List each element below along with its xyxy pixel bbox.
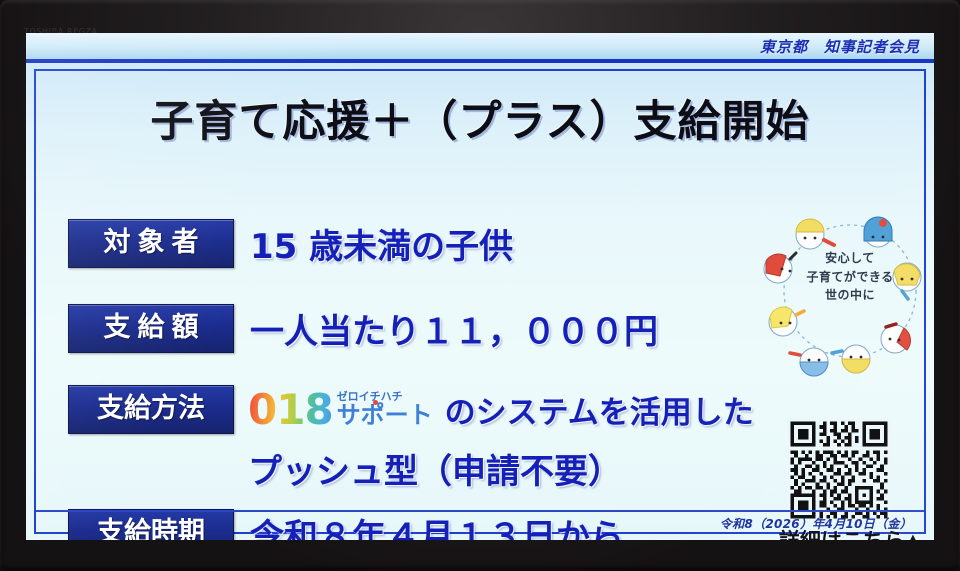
value-method-line1: のシステムを活用した [445,387,754,432]
logo-018-text: ゼロイチハチ サポート [337,391,433,427]
label-target: 対象者 [68,219,234,268]
value-timing: 令和８年４月１３日から [250,509,624,540]
illustration-caption: 安心して 子育てができる 世の中に [752,249,934,305]
value-method-line2: プッシュ型（申請不要） [248,444,622,493]
illustration-caption-line3: 世の中に [752,286,934,305]
row-method: 支給方法 018 ゼロイチハチ サポート のシステムを活用した [68,385,754,434]
tv-frame: TOSHIBA REGZA 東京都 知事記者会見 子育て応援＋（プラス）支給開始… [0,0,960,571]
label-timing: 支給時期 [68,509,234,540]
child-figure-top-right [864,217,892,247]
child-figure-bottom-left [790,348,828,376]
child-figure-bottom-right [881,324,911,353]
logo-018-support: 018 ゼロイチハチ サポート [248,391,433,429]
logo-018-digits: 018 [248,391,335,429]
footer-divider [36,510,924,512]
tv-screen: 東京都 知事記者会見 子育て応援＋（プラス）支給開始 対象者 15 歳未満の子供… [26,33,934,540]
row-amount: 支給額 一人当たり１１，０００円 [68,304,658,353]
logo-018-support-label: サポート [337,403,433,427]
child-figure-bottom [832,345,870,373]
illustration-caption-line1: 安心して [752,249,934,268]
qr-code-container[interactable] [783,418,895,522]
value-amount: 一人当たり１１，０００円 [250,304,658,353]
slide-headline: 子育て応援＋（プラス）支給開始 [26,87,934,149]
illustration-caption-line2: 子育てができる [752,268,934,287]
qr-code-icon[interactable] [783,418,895,522]
value-target: 15 歳未満の子供 [250,219,513,268]
children-ring-illustration: 安心して 子育てができる 世の中に [752,199,934,385]
slide-footer-date: 令和8（2026）年4月10日（金） [720,515,912,532]
presentation-slide: 子育て応援＋（プラス）支給開始 対象者 15 歳未満の子供 支給額 一人当たり１… [26,63,934,540]
label-amount: 支給額 [68,304,234,353]
child-figure-top-left [796,219,834,249]
broadcast-header: 東京都 知事記者会見 [26,33,934,63]
label-method: 支給方法 [68,385,234,434]
broadcast-header-title: 東京都 知事記者会見 [760,36,920,57]
row-timing: 支給時期 令和８年４月１３日から [68,509,624,540]
row-target: 対象者 15 歳未満の子供 [68,219,513,268]
